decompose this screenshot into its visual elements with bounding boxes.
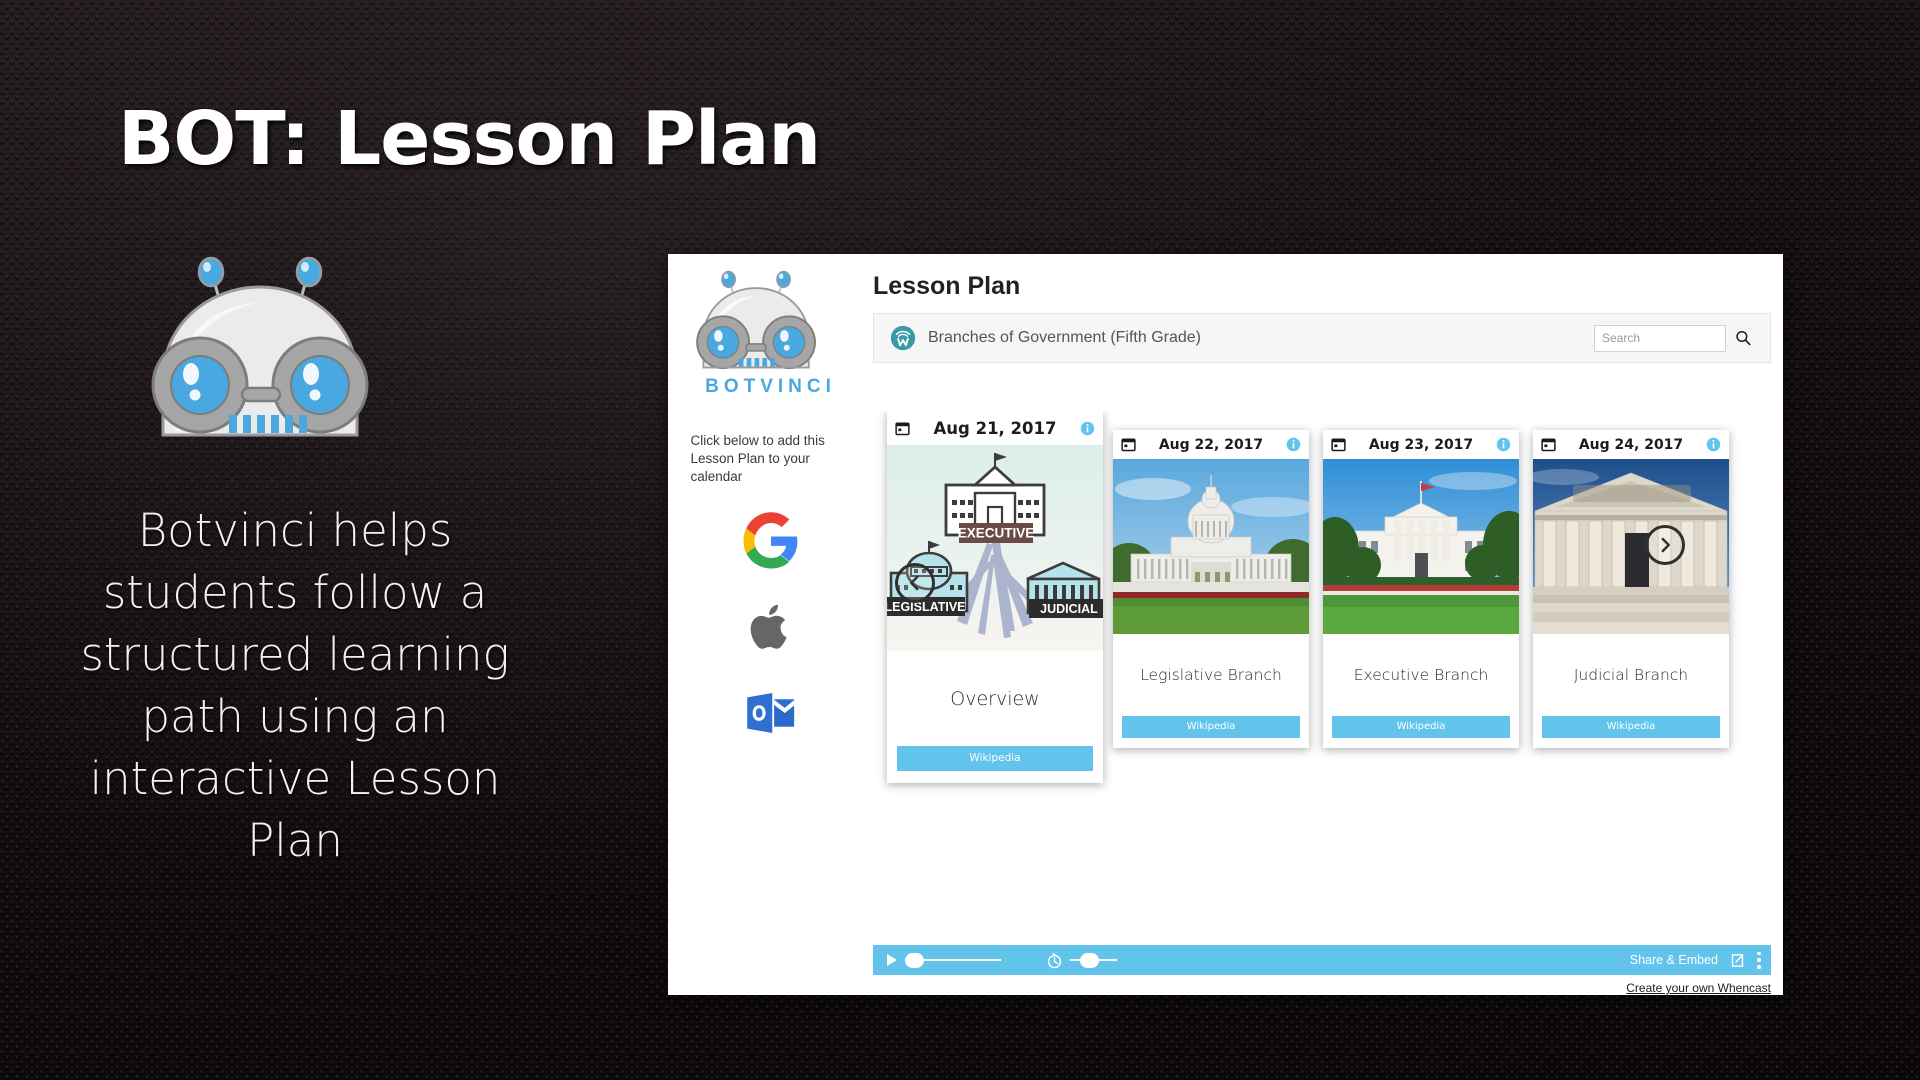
calendar-hint-line-1: Click below to add this bbox=[691, 432, 851, 450]
card-header: Aug 21, 2017 bbox=[887, 411, 1103, 445]
speed-knob[interactable] bbox=[1080, 953, 1099, 968]
info-icon[interactable] bbox=[1286, 437, 1301, 452]
whencast-logo-icon bbox=[890, 325, 916, 351]
timer-icon[interactable] bbox=[1046, 952, 1063, 969]
card-header: Aug 23, 2017 bbox=[1323, 430, 1519, 459]
breadcrumb-label: Branches of Government (Fifth Grade) bbox=[928, 329, 1594, 347]
chevron-left-icon bbox=[906, 574, 924, 592]
breadcrumb: Branches of Government (Fifth Grade) bbox=[873, 313, 1771, 363]
supreme-court-photo bbox=[1533, 459, 1729, 634]
carousel-next-button[interactable] bbox=[1645, 525, 1685, 565]
calendar-icon[interactable] bbox=[1331, 437, 1346, 452]
card-title: Judicial Branch bbox=[1533, 634, 1729, 716]
outlook-calendar-icon[interactable] bbox=[741, 683, 801, 743]
kebab-dot bbox=[1757, 965, 1761, 969]
card-title: Executive Branch bbox=[1323, 634, 1519, 716]
progress-knob[interactable] bbox=[905, 953, 924, 968]
kebab-menu-icon[interactable] bbox=[1757, 952, 1761, 969]
chevron-right-icon bbox=[1656, 536, 1674, 554]
calendar-hint: Click below to add this Lesson Plan to y… bbox=[691, 432, 851, 485]
card-date: Aug 22, 2017 bbox=[1159, 437, 1263, 453]
search-button[interactable] bbox=[1726, 323, 1760, 353]
search-icon bbox=[1734, 329, 1752, 347]
external-link-icon[interactable] bbox=[1729, 952, 1746, 969]
judicial-label: JUDICIAL bbox=[1040, 602, 1098, 616]
card-media: EXECUTIVE bbox=[887, 445, 1103, 651]
card-title: Overview bbox=[887, 651, 1103, 746]
wikipedia-button[interactable]: Wikipedia bbox=[1542, 716, 1720, 738]
create-whencast-link[interactable]: Create your own Whencast bbox=[1626, 981, 1771, 995]
kebab-dot bbox=[1757, 958, 1761, 962]
wikipedia-button[interactable]: Wikipedia bbox=[897, 746, 1093, 771]
apple-calendar-icon[interactable] bbox=[741, 597, 801, 657]
calendar-hint-line-2: Lesson Plan to your calendar bbox=[691, 450, 851, 486]
card-date: Aug 21, 2017 bbox=[934, 419, 1057, 438]
card-header: Aug 24, 2017 bbox=[1533, 430, 1729, 459]
us-capitol-photo bbox=[1113, 459, 1309, 634]
card-date: Aug 24, 2017 bbox=[1579, 437, 1683, 453]
wikipedia-button[interactable]: Wikipedia bbox=[1122, 716, 1300, 738]
carousel-prev-button[interactable] bbox=[895, 563, 935, 603]
calendar-buttons bbox=[741, 511, 801, 743]
card-header: Aug 22, 2017 bbox=[1113, 430, 1309, 459]
lesson-plan-heading: Lesson Plan bbox=[873, 272, 1783, 301]
lesson-card[interactable]: Aug 21, 2017 bbox=[887, 411, 1103, 783]
card-media bbox=[1113, 459, 1309, 634]
executive-label: EXECUTIVE bbox=[958, 526, 1035, 541]
lesson-card[interactable]: Aug 23, 2017 bbox=[1323, 430, 1519, 748]
info-icon[interactable] bbox=[1706, 437, 1721, 452]
wikipedia-button[interactable]: Wikipedia bbox=[1332, 716, 1510, 738]
botvinci-logo-icon bbox=[691, 270, 851, 380]
botvinci-wordmark: BOTVINCI bbox=[705, 376, 836, 398]
lesson-card-carousel: Aug 21, 2017 bbox=[873, 411, 1783, 945]
info-icon[interactable] bbox=[1496, 437, 1511, 452]
kebab-dot bbox=[1757, 952, 1761, 956]
three-branches-diagram: EXECUTIVE bbox=[887, 445, 1103, 651]
search-input[interactable] bbox=[1594, 325, 1726, 352]
whencast-app-window: BOTVINCI Click below to add this Lesson … bbox=[668, 254, 1783, 995]
card-media bbox=[1533, 459, 1729, 634]
card-media bbox=[1323, 459, 1519, 634]
calendar-icon[interactable] bbox=[1121, 437, 1136, 452]
speed-slider[interactable] bbox=[1070, 953, 1117, 967]
lesson-card[interactable]: Aug 22, 2017 bbox=[1113, 430, 1309, 748]
legislative-label: LEGISLATIVE bbox=[887, 600, 966, 614]
google-calendar-icon[interactable] bbox=[741, 511, 801, 571]
app-sidebar: BOTVINCI Click below to add this Lesson … bbox=[668, 254, 873, 995]
lesson-card[interactable]: Aug 24, 2017 bbox=[1533, 430, 1729, 748]
botvinci-mascot-illustration bbox=[145, 255, 455, 460]
footer-row: Create your own Whencast bbox=[873, 975, 1783, 995]
page-title: BOT: Lesson Plan bbox=[118, 96, 820, 182]
card-date: Aug 23, 2017 bbox=[1369, 437, 1473, 453]
slide-body-text: Botvinci helps students follow a structu… bbox=[60, 500, 530, 873]
player-bar: Share & Embed bbox=[873, 945, 1771, 975]
player-actions: Share & Embed bbox=[1630, 952, 1761, 969]
calendar-icon[interactable] bbox=[895, 421, 910, 436]
card-title: Legislative Branch bbox=[1113, 634, 1309, 716]
play-icon[interactable] bbox=[887, 954, 897, 966]
info-icon[interactable] bbox=[1080, 421, 1095, 436]
app-main-panel: Lesson Plan Branches of Government (Fift… bbox=[873, 254, 1783, 995]
progress-slider[interactable] bbox=[905, 953, 1001, 967]
white-house-photo bbox=[1323, 459, 1519, 634]
share-embed-button[interactable]: Share & Embed bbox=[1630, 953, 1718, 967]
calendar-icon[interactable] bbox=[1541, 437, 1556, 452]
